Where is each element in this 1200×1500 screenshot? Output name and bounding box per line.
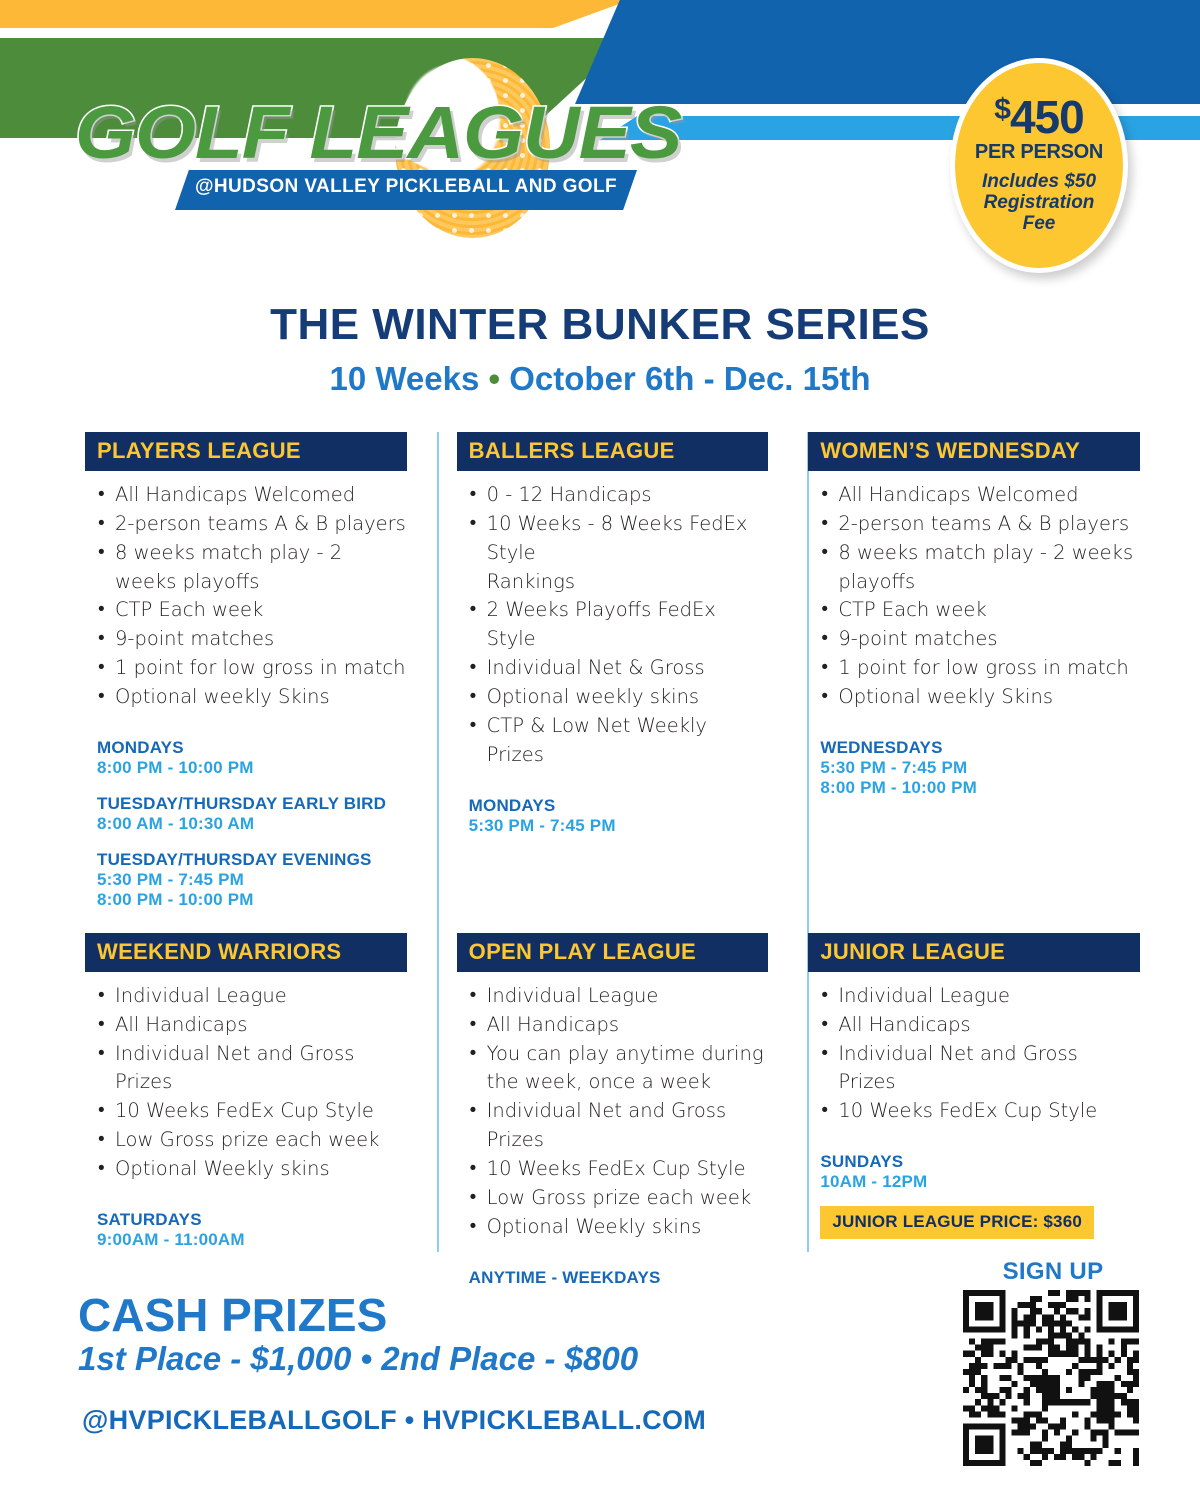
schedule-day: MONDAYS <box>97 738 407 758</box>
page-subtitle: 10 Weeks • October 6th - Dec. 15th <box>0 360 1200 398</box>
league-feature-item: CTP Each week <box>820 596 1140 625</box>
schedule-block: SUNDAYS10AM - 12PM <box>820 1152 1140 1192</box>
league-card-title: OPEN PLAY LEAGUE <box>457 933 769 972</box>
league-feature-item: 10 Weeks FedEx Cup Style <box>820 1097 1140 1126</box>
subtitle-dates: October 6th - Dec. 15th <box>509 360 870 397</box>
badge-price: $450 <box>994 96 1083 140</box>
schedule-day: TUESDAY/THURSDAY EARLY BIRD <box>97 794 407 814</box>
social-handle-line[interactable]: @HVPICKLEBALLGOLF • HVPICKLEBALL.COM <box>82 1405 706 1436</box>
league-feature-item: Individual Net and Gross Prizes <box>469 1097 769 1155</box>
league-schedule: SATURDAYS9:00AM - 11:00AM <box>97 1210 407 1250</box>
league-feature-item: 9-point matches <box>97 625 407 654</box>
league-feature-item: Optional Weekly skins <box>97 1155 407 1184</box>
league-feature-item: 2 Weeks Playoffs FedEx Style <box>469 596 769 654</box>
league-feature-list: Individual LeagueAll HandicapsIndividual… <box>820 982 1140 1126</box>
schedule-block: TUESDAY/THURSDAY EARLY BIRD8:00 AM - 10:… <box>97 794 407 834</box>
league-feature-item: Optional Weekly skins <box>469 1213 769 1242</box>
schedule-block: WEDNESDAYS5:30 PM - 7:45 PM8:00 PM - 10:… <box>820 738 1140 798</box>
brand-logo: GOLF LEAGUES @HUDSON VALLEY PICKLEBALL A… <box>75 52 735 282</box>
league-schedule: WEDNESDAYS5:30 PM - 7:45 PM8:00 PM - 10:… <box>820 738 1140 798</box>
schedule-hours: 9:00AM - 11:00AM <box>97 1230 407 1250</box>
league-feature-item: 0 - 12 Handicaps <box>469 481 769 510</box>
league-card-title: JUNIOR LEAGUE <box>808 933 1140 972</box>
schedule-block: MONDAYS5:30 PM - 7:45 PM <box>469 796 769 836</box>
cash-prizes-title: CASH PRIZES <box>78 1288 387 1342</box>
league-card-title: PLAYERS LEAGUE <box>85 432 407 471</box>
league-feature-item: 1 point for low gross in match <box>820 654 1140 683</box>
league-card: WEEKEND WARRIORSIndividual LeagueAll Han… <box>85 933 437 1288</box>
league-feature-list: All Handicaps Welcomed2-person teams A &… <box>820 481 1140 712</box>
league-card-title: BALLERS LEAGUE <box>457 432 769 471</box>
league-card-title: WEEKEND WARRIORS <box>85 933 407 972</box>
schedule-day: TUESDAY/THURSDAY EVENINGS <box>97 850 407 870</box>
league-card: OPEN PLAY LEAGUEIndividual LeagueAll Han… <box>437 933 789 1288</box>
league-feature-item: 10 Weeks - 8 Weeks FedEx Style Rankings <box>469 510 769 597</box>
league-feature-list: Individual LeagueAll HandicapsYou can pl… <box>469 982 769 1242</box>
league-feature-item: 8 weeks match play - 2 weeks playoffs <box>820 539 1140 597</box>
badge-amount: 450 <box>1010 91 1084 143</box>
league-feature-item: Individual League <box>469 982 769 1011</box>
league-card: JUNIOR LEAGUEIndividual LeagueAll Handic… <box>788 933 1140 1288</box>
schedule-hours: 8:00 AM - 10:30 AM <box>97 814 407 834</box>
schedule-day: SATURDAYS <box>97 1210 407 1230</box>
league-feature-item: Optional weekly Skins <box>97 683 407 712</box>
league-feature-item: All Handicaps <box>820 1011 1140 1040</box>
badge-per-person: PER PERSON <box>975 141 1103 164</box>
league-feature-item: All Handicaps Welcomed <box>97 481 407 510</box>
league-feature-item: All Handicaps <box>97 1011 407 1040</box>
league-schedule: ANYTIME - WEEKDAYS <box>469 1268 769 1288</box>
league-row-bottom: WEEKEND WARRIORSIndividual LeagueAll Han… <box>85 933 1140 1288</box>
league-feature-item: CTP & Low Net Weekly Prizes <box>469 712 769 770</box>
league-feature-item: Individual League <box>820 982 1140 1011</box>
page-title: THE WINTER BUNKER SERIES <box>0 300 1200 350</box>
schedule-hours: 5:30 PM - 7:45 PM <box>469 816 769 836</box>
league-feature-item: Individual Net and Gross Prizes <box>97 1040 407 1098</box>
league-card: PLAYERS LEAGUEAll Handicaps Welcomed2-pe… <box>85 432 437 910</box>
league-card-title: WOMEN’S WEDNESDAY <box>808 432 1140 471</box>
cash-prizes-detail: 1st Place - $1,000 • 2nd Place - $800 <box>78 1340 638 1378</box>
logo-title: GOLF LEAGUES <box>75 90 753 175</box>
schedule-block: TUESDAY/THURSDAY EVENINGS5:30 PM - 7:45 … <box>97 850 407 910</box>
schedule-block: ANYTIME - WEEKDAYS <box>469 1268 769 1288</box>
logo-subtitle: @HUDSON VALLEY PICKLEBALL AND GOLF <box>175 176 637 198</box>
banner-stripe-yellow <box>0 0 630 28</box>
badge-includes: Includes $50 Registration Fee <box>982 171 1096 235</box>
schedule-hours: 8:00 PM - 10:00 PM <box>97 758 407 778</box>
league-feature-item: 10 Weeks FedEx Cup Style <box>469 1155 769 1184</box>
league-feature-item: 8 weeks match play - 2 weeks playoffs <box>97 539 407 597</box>
price-badge: $450 PER PERSON Includes $50 Registratio… <box>950 58 1128 273</box>
league-feature-item: Individual Net & Gross <box>469 654 769 683</box>
schedule-block: MONDAYS8:00 PM - 10:00 PM <box>97 738 407 778</box>
league-feature-item: Individual League <box>97 982 407 1011</box>
league-schedule: SUNDAYS10AM - 12PM <box>820 1152 1140 1192</box>
league-feature-list: All Handicaps Welcomed2-person teams A &… <box>97 481 407 712</box>
league-price-tag: JUNIOR LEAGUE PRICE: $360 <box>820 1206 1094 1239</box>
league-feature-item: 1 point for low gross in match <box>97 654 407 683</box>
league-feature-item: CTP Each week <box>97 596 407 625</box>
schedule-hours: 5:30 PM - 7:45 PM <box>820 758 1140 778</box>
league-feature-item: 2-person teams A & B players <box>820 510 1140 539</box>
league-feature-item: All Handicaps Welcomed <box>820 481 1140 510</box>
qr-code[interactable] <box>963 1290 1139 1466</box>
league-schedule: MONDAYS8:00 PM - 10:00 PMTUESDAY/THURSDA… <box>97 738 407 910</box>
league-schedule: MONDAYS5:30 PM - 7:45 PM <box>469 796 769 836</box>
schedule-day: WEDNESDAYS <box>820 738 1140 758</box>
league-grid: PLAYERS LEAGUEAll Handicaps Welcomed2-pe… <box>85 432 1140 1288</box>
schedule-day: SUNDAYS <box>820 1152 1140 1172</box>
league-feature-item: Low Gross prize each week <box>97 1126 407 1155</box>
schedule-hours: 5:30 PM - 7:45 PM <box>97 870 407 890</box>
league-card: BALLERS LEAGUE0 - 12 Handicaps10 Weeks -… <box>437 432 789 910</box>
badge-dollar-sign: $ <box>994 93 1010 126</box>
league-feature-item: You can play anytime during the week, on… <box>469 1040 769 1098</box>
league-feature-item: 9-point matches <box>820 625 1140 654</box>
league-feature-item: Optional weekly skins <box>469 683 769 712</box>
league-feature-item: Optional weekly Skins <box>820 683 1140 712</box>
league-feature-item: 2-person teams A & B players <box>97 510 407 539</box>
schedule-hours: 8:00 PM - 10:00 PM <box>97 890 407 910</box>
schedule-day: MONDAYS <box>469 796 769 816</box>
schedule-day: ANYTIME - WEEKDAYS <box>469 1268 769 1288</box>
league-feature-item: Low Gross prize each week <box>469 1184 769 1213</box>
league-feature-list: 0 - 12 Handicaps10 Weeks - 8 Weeks FedEx… <box>469 481 769 770</box>
schedule-hours: 8:00 PM - 10:00 PM <box>820 778 1140 798</box>
schedule-hours: 10AM - 12PM <box>820 1172 1140 1192</box>
subtitle-separator-dot: • <box>489 360 501 397</box>
league-row-top: PLAYERS LEAGUEAll Handicaps Welcomed2-pe… <box>85 432 1140 910</box>
league-feature-item: Individual Net and Gross Prizes <box>820 1040 1140 1098</box>
subtitle-weeks: 10 Weeks <box>330 360 480 397</box>
league-feature-item: 10 Weeks FedEx Cup Style <box>97 1097 407 1126</box>
league-feature-item: All Handicaps <box>469 1011 769 1040</box>
league-feature-list: Individual LeagueAll HandicapsIndividual… <box>97 982 407 1184</box>
league-card: WOMEN’S WEDNESDAYAll Handicaps Welcomed2… <box>788 432 1140 910</box>
schedule-block: SATURDAYS9:00AM - 11:00AM <box>97 1210 407 1250</box>
